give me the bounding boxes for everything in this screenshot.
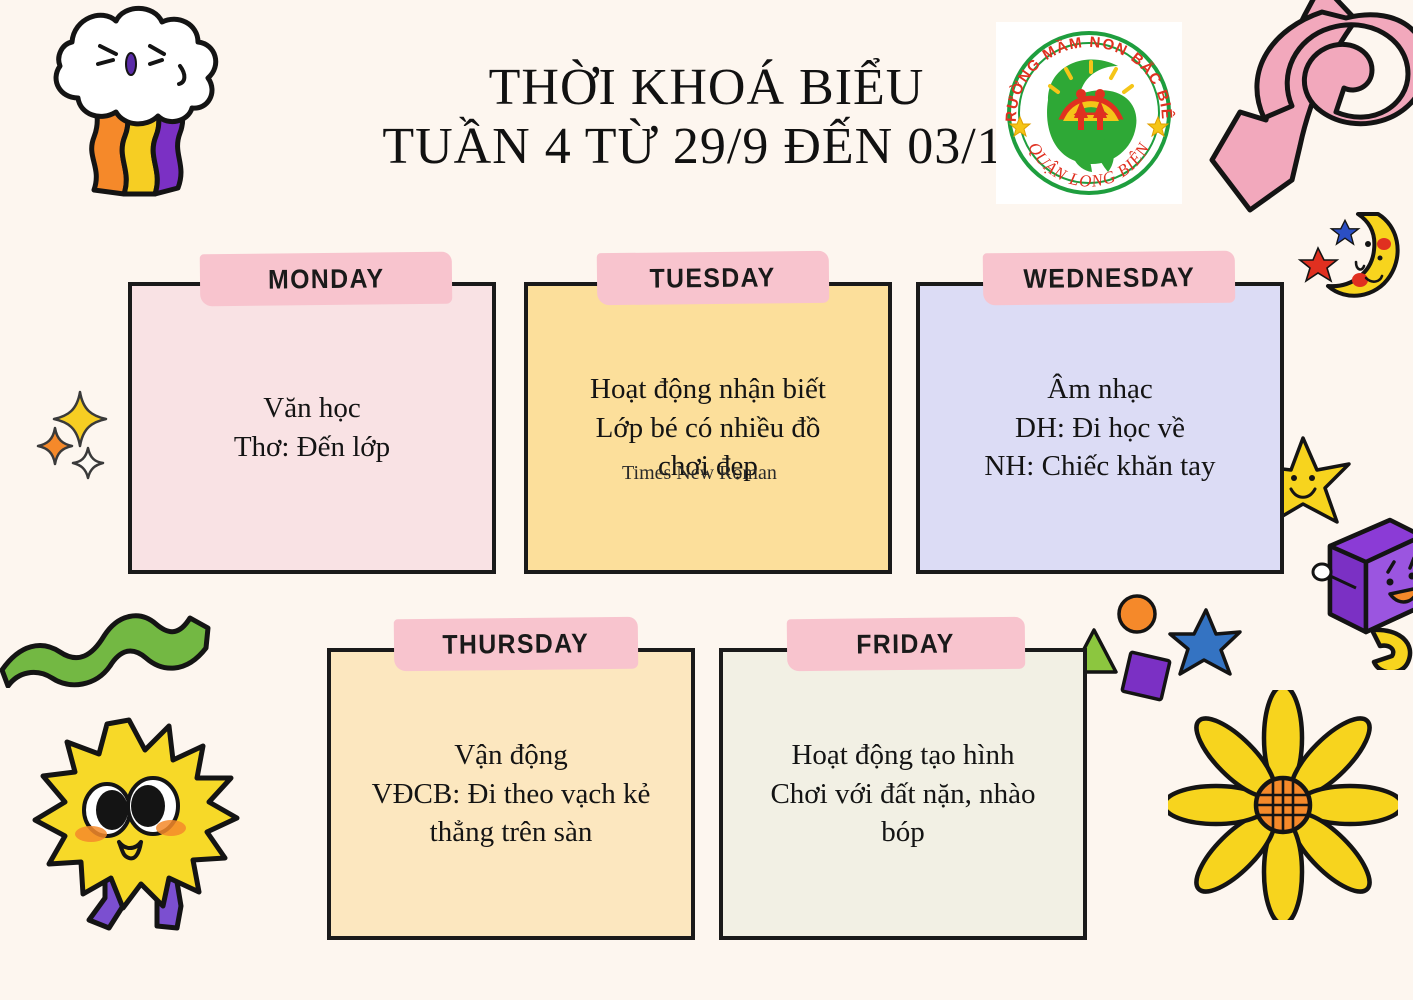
purple-square-sticker [1116,646,1178,708]
activity-line: NH: Chiếc khăn tay [930,447,1270,486]
day-card-tuesday[interactable]: Hoạt động nhận biết Lớp bé có nhiều đồ c… [524,282,892,574]
activity-line: VĐCB: Đi theo vạch kẻ [341,775,681,814]
day-tab-label: TUESDAY [650,262,776,294]
sparkles-sticker [22,370,132,480]
green-squiggle-sticker [0,596,225,688]
sun-character-sticker [25,706,240,951]
purple-cube-character-sticker [1296,510,1413,670]
activity-line: Hoạt động tạo hình [733,736,1073,775]
crescent-moon-sticker [1296,196,1408,308]
activity-line: DH: Đi học về [930,409,1270,448]
activity-line: Lớp bé có nhiều đồ [538,409,878,448]
activity-line: Văn học [142,389,482,428]
day-card-wednesday[interactable]: Âm nhạc DH: Đi học về NH: Chiếc khăn tay [916,282,1284,574]
day-tab-label: FRIDAY [857,628,956,660]
day-tab-tuesday: TUESDAY [597,251,830,305]
day-card-friday[interactable]: Hoạt động tạo hình Chơi với đất nặn, nhà… [719,648,1087,940]
poster-canvas: THỜI KHOÁ BIỂU TUẦN 4 TỪ 29/9 ĐẾN 03/10 [0,0,1413,1000]
day-card-wednesday-content: Âm nhạc DH: Đi học về NH: Chiếc khăn tay [920,370,1280,487]
day-card-monday[interactable]: Văn học Thơ: Đến lớp [128,282,496,574]
activity-line: Thơ: Đến lớp [142,428,482,467]
activity-line: bóp [733,813,1073,852]
day-card-friday-content: Hoạt động tạo hình Chơi với đất nặn, nhà… [723,736,1083,853]
page-title-line2: TUẦN 4 TỪ 29/9 ĐẾN 03/10 [0,117,1413,176]
day-tab-wednesday: WEDNESDAY [983,251,1236,306]
activity-line: Hoạt động nhận biết [538,370,878,409]
day-card-monday-content: Văn học Thơ: Đến lớp [132,389,492,467]
day-tab-label: THURSDAY [442,628,589,661]
day-card-thursday[interactable]: Vận động VĐCB: Đi theo vạch kẻ thẳng trê… [327,648,695,940]
day-tab-label: WEDNESDAY [1023,262,1195,295]
activity-line: Vận động [341,736,681,775]
school-logo: TRƯỜNG MẦM NON BẮC BIÊN QUẬN LONG BIÊN [996,22,1182,204]
font-name-watermark: Times New Roman [622,462,777,485]
blue-star-sticker [1166,604,1242,680]
activity-line: thẳng trên sàn [341,813,681,852]
activity-line: Chơi với đất nặn, nhào [733,775,1073,814]
yellow-daisy-sticker [1168,690,1398,920]
day-card-thursday-content: Vận động VĐCB: Đi theo vạch kẻ thẳng trê… [331,736,691,853]
orange-circle-sticker [1115,592,1159,636]
poster-header: THỜI KHOÁ BIỂU TUẦN 4 TỪ 29/9 ĐẾN 03/10 [0,58,1413,177]
day-tab-thursday: THURSDAY [394,617,639,672]
day-tab-label: MONDAY [268,263,385,295]
activity-line: Âm nhạc [930,370,1270,409]
page-title-line1: THỜI KHOÁ BIỂU [0,58,1413,117]
day-tab-monday: MONDAY [200,252,453,307]
day-tab-friday: FRIDAY [787,617,1026,671]
